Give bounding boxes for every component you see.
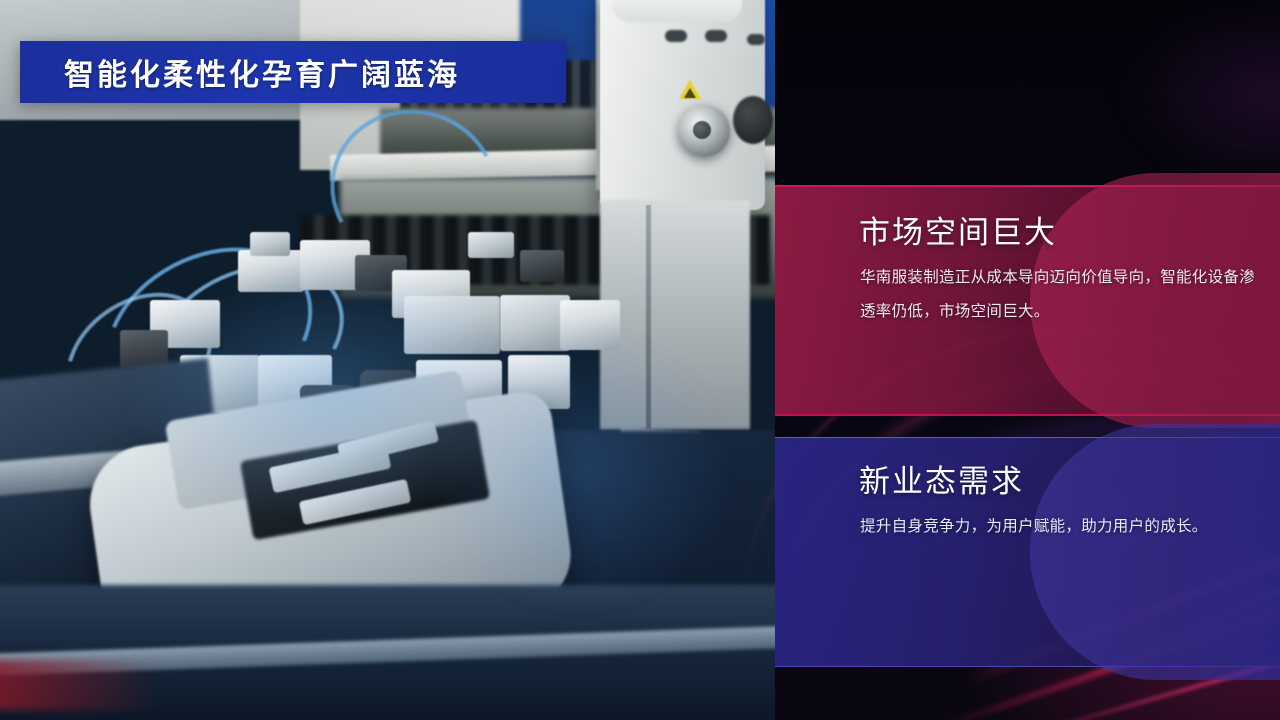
- top-corner-glow: [1115, 0, 1280, 190]
- photo-machine-vent-slot: [665, 30, 687, 42]
- photo-machine-vent-slot: [747, 34, 765, 45]
- panel-lobe-fill: [1030, 424, 1280, 680]
- panel-body-market-space: 华南服装制造正从成本导向迈向价值导向，智能化设备渗透率仍低，市场空间巨大。: [860, 261, 1260, 329]
- photo-machine-port: [733, 96, 773, 144]
- photo-machine-top-cover: [612, 0, 742, 22]
- photo-pneumatic-cap: [468, 232, 514, 258]
- panel-heading-new-business: 新业态需求: [859, 466, 1024, 497]
- background-photo-industrial-machine: [0, 0, 775, 720]
- warning-triangle-inner-icon: [684, 88, 696, 98]
- photo-pneumatic-cap: [250, 232, 290, 256]
- panel-body-new-business: 提升自身竞争力，为用户赋能，助力用户的成长。: [860, 510, 1260, 544]
- presentation-slide: 市场空间巨大 华南服装制造正从成本导向迈向价值导向，智能化设备渗透率仍低，市场空…: [0, 0, 1280, 720]
- slide-title-text: 智能化柔性化孕育广阔蓝海: [64, 50, 460, 94]
- content-panel-market-space[interactable]: 市场空间巨大 华南服装制造正从成本导向迈向价值导向，智能化设备渗透率仍低，市场空…: [775, 185, 1280, 416]
- slide-title-banner: 智能化柔性化孕育广阔蓝海: [20, 41, 566, 103]
- photo-blue-glow-secondary: [430, 330, 730, 610]
- content-panel-new-business[interactable]: 新业态需求 提升自身竞争力，为用户赋能，助力用户的成长。: [775, 437, 1280, 667]
- photo-handwheel-hub: [693, 121, 711, 139]
- panel-heading-market-space: 市场空间巨大: [859, 217, 1057, 248]
- photo-red-reflection: [0, 660, 160, 710]
- photo-machine-vent-slot: [705, 30, 727, 42]
